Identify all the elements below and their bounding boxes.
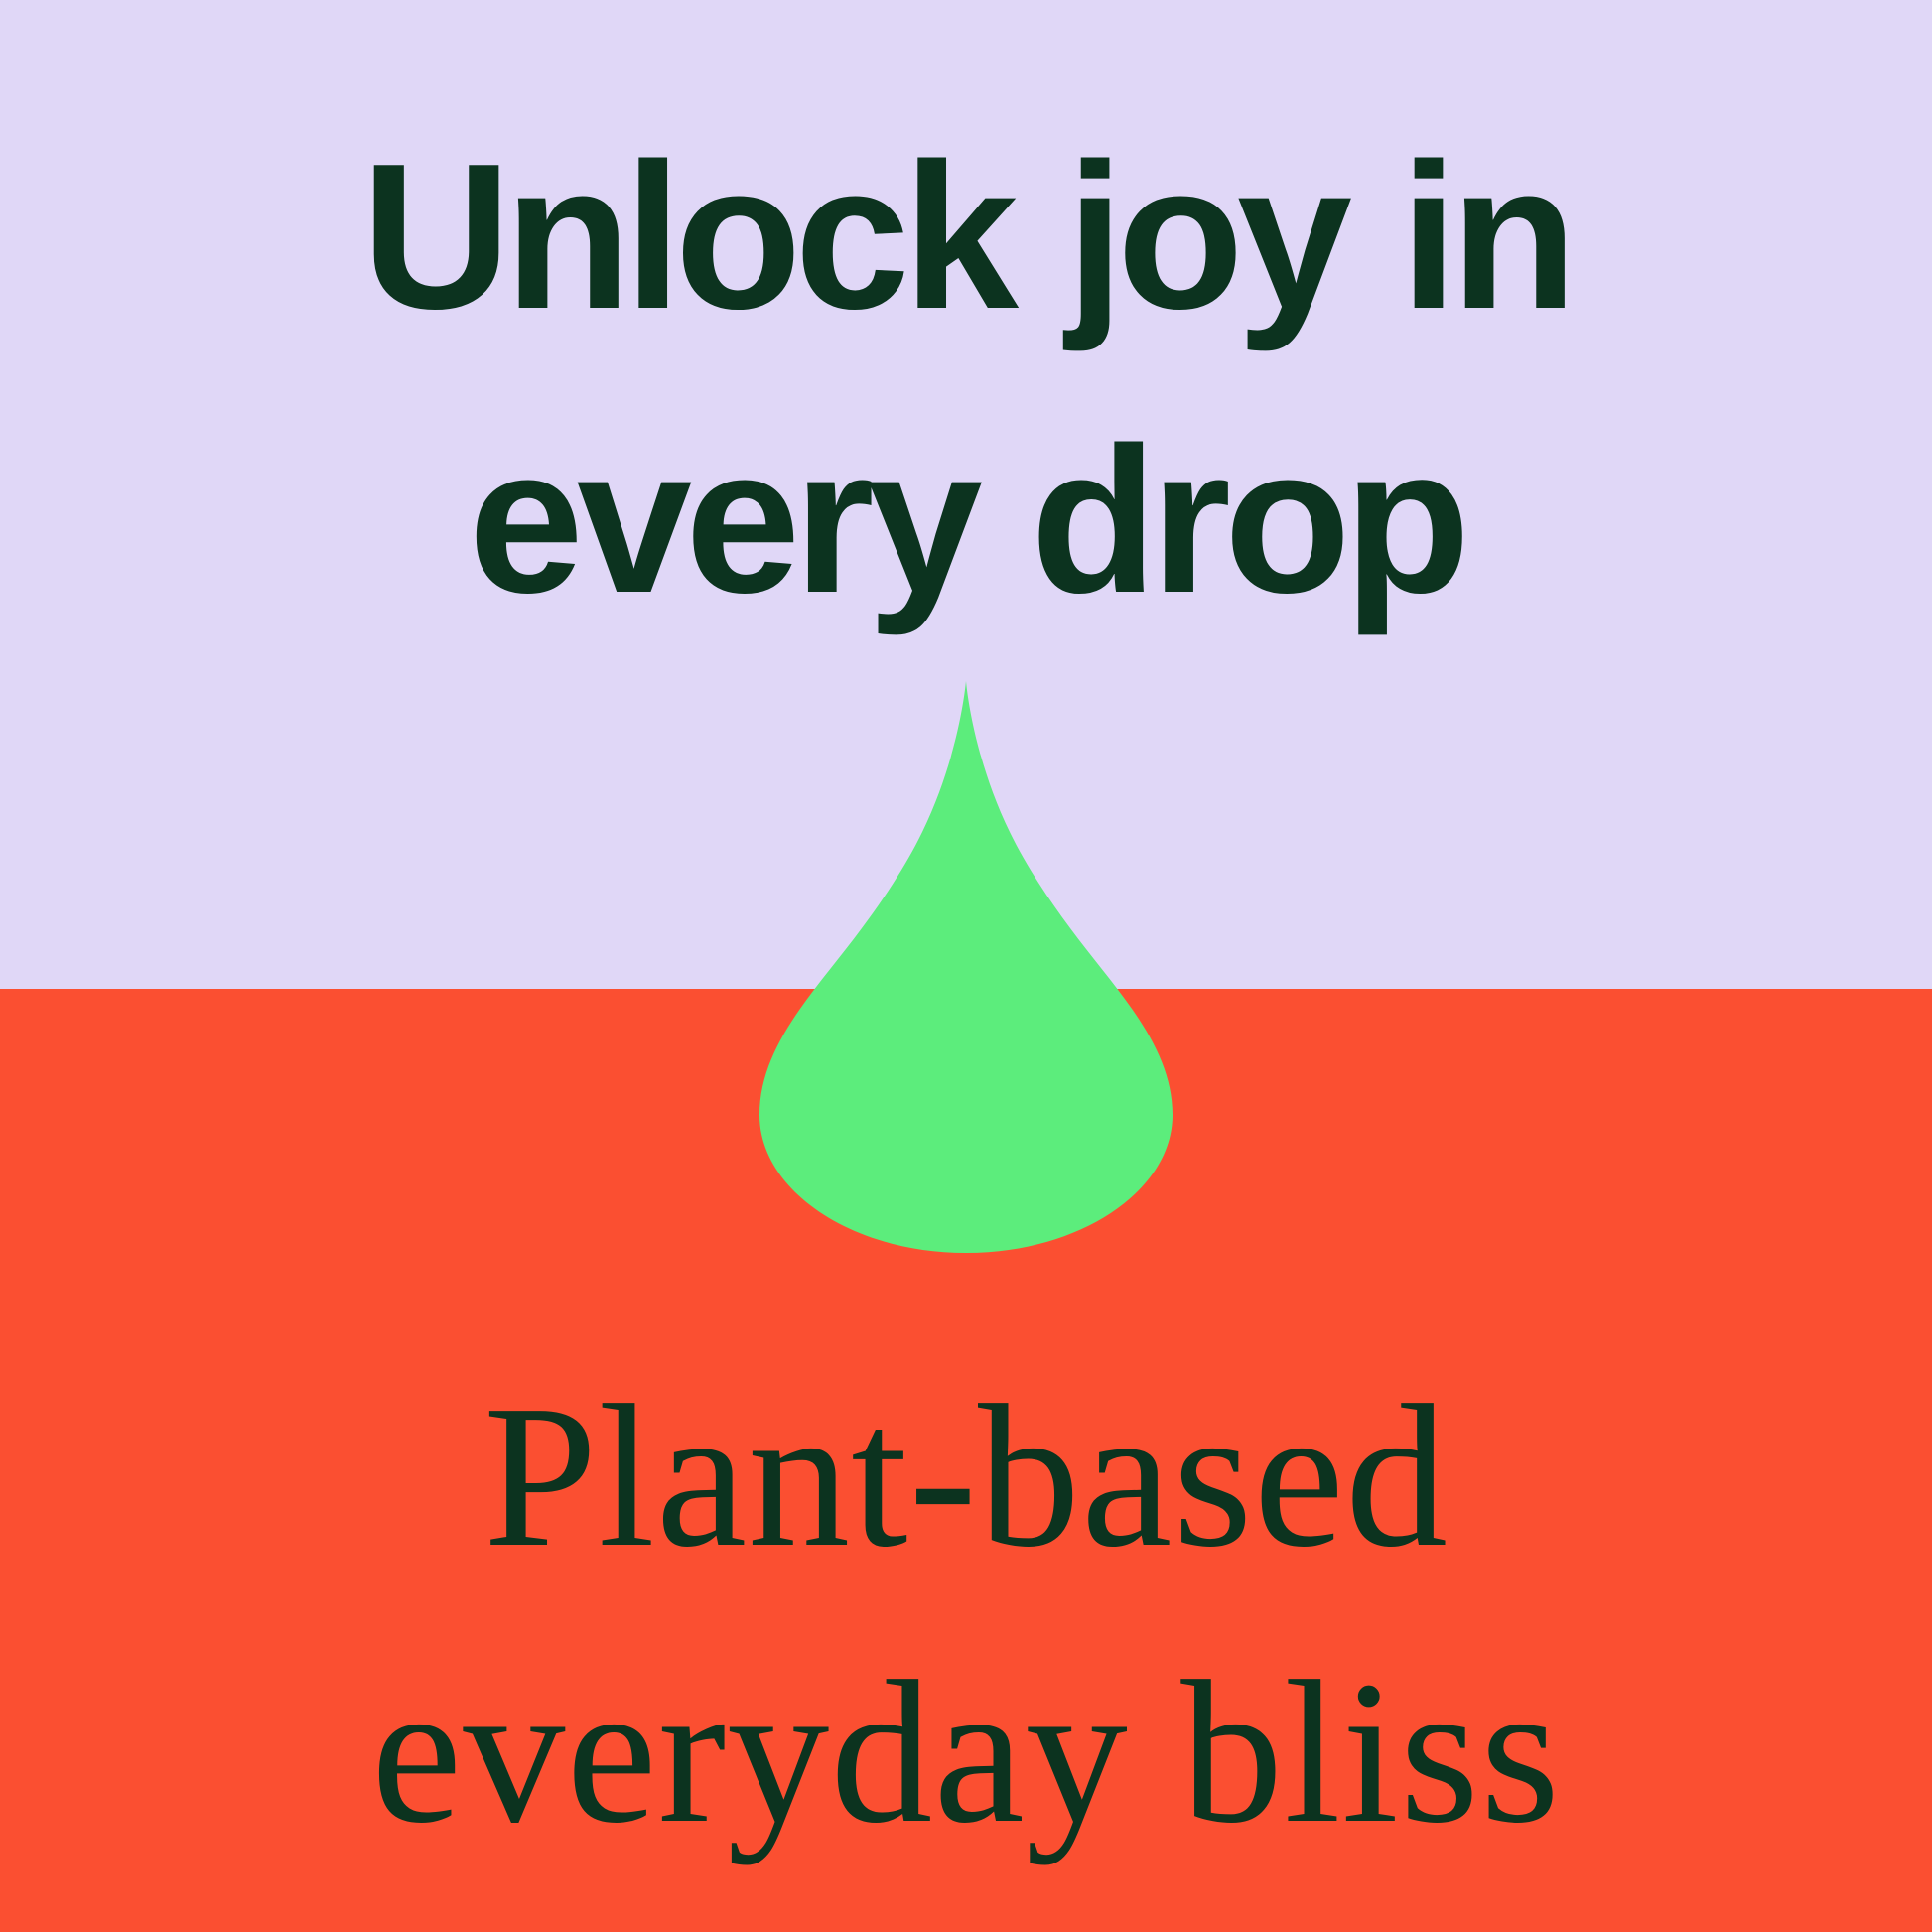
headline-line-1: Unlock joy in (0, 95, 1932, 379)
promo-poster: Unlock joy in every drop Plant-based eve… (0, 0, 1932, 1932)
subheading-line-1: Plant-based (0, 1338, 1932, 1614)
headline-line-2: every drop (0, 379, 1932, 663)
subheading: Plant-based everyday bliss (0, 1338, 1932, 1890)
subheading-line-2: everyday bliss (0, 1614, 1932, 1890)
headline: Unlock joy in every drop (0, 95, 1932, 663)
